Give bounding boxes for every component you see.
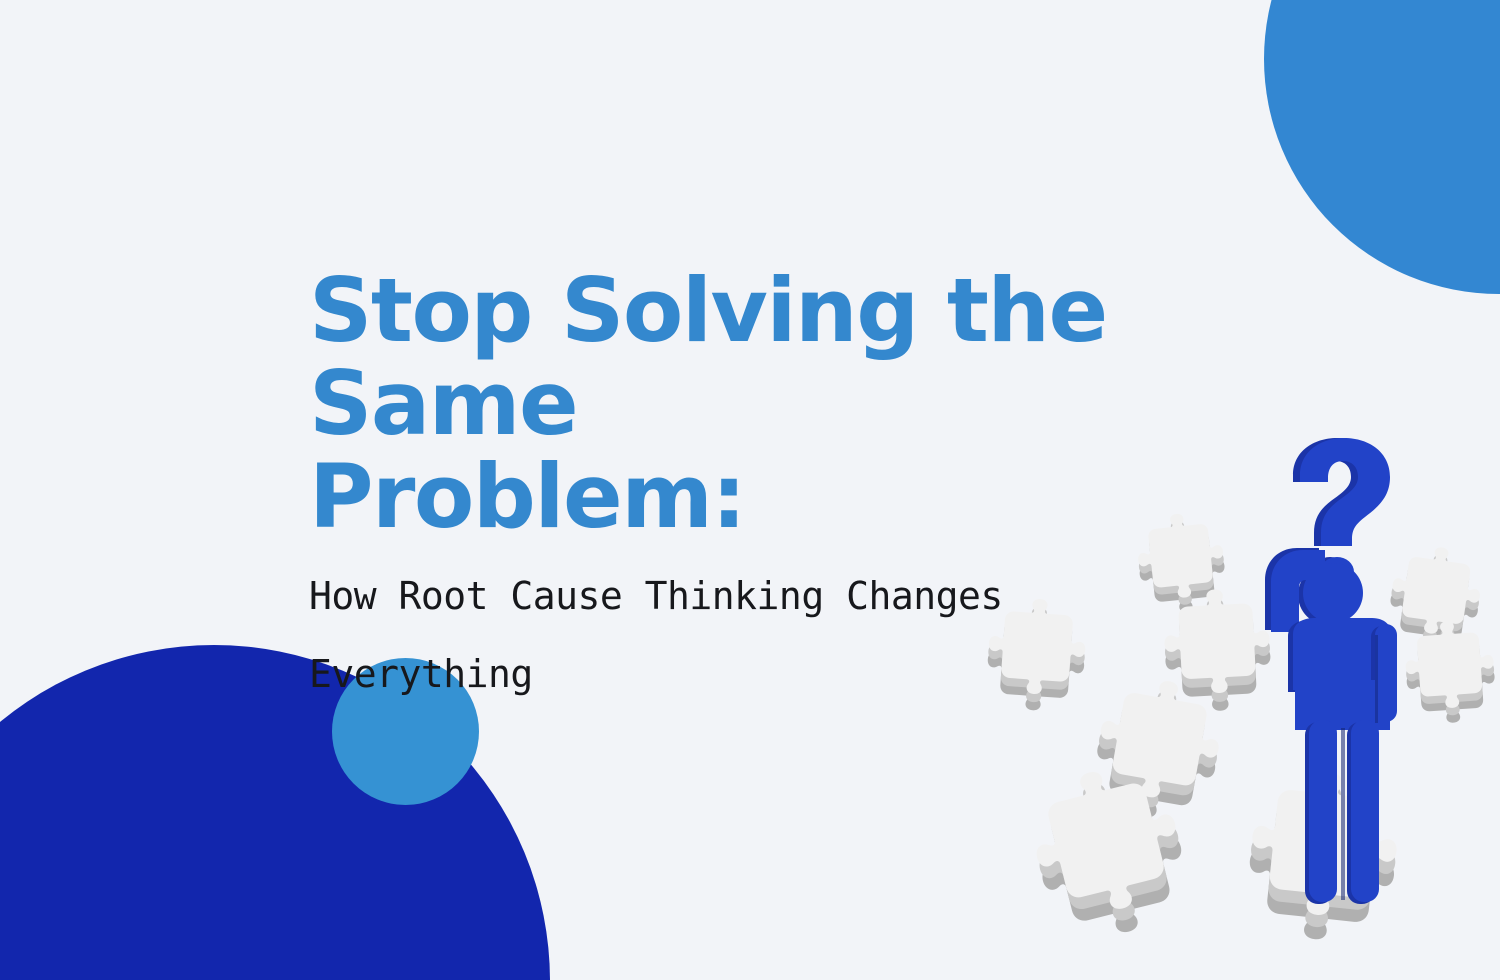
poster-canvas: Stop Solving the Same Problem: How Root … — [0, 0, 1500, 980]
puzzle-piece-right-lower — [1403, 618, 1498, 726]
illustration-confused-person-puzzle — [975, 430, 1500, 980]
decorative-circle-top-right — [1264, 0, 1500, 294]
puzzle-piece-left-upper — [984, 596, 1088, 714]
puzzle-piece-center — [1162, 587, 1273, 714]
